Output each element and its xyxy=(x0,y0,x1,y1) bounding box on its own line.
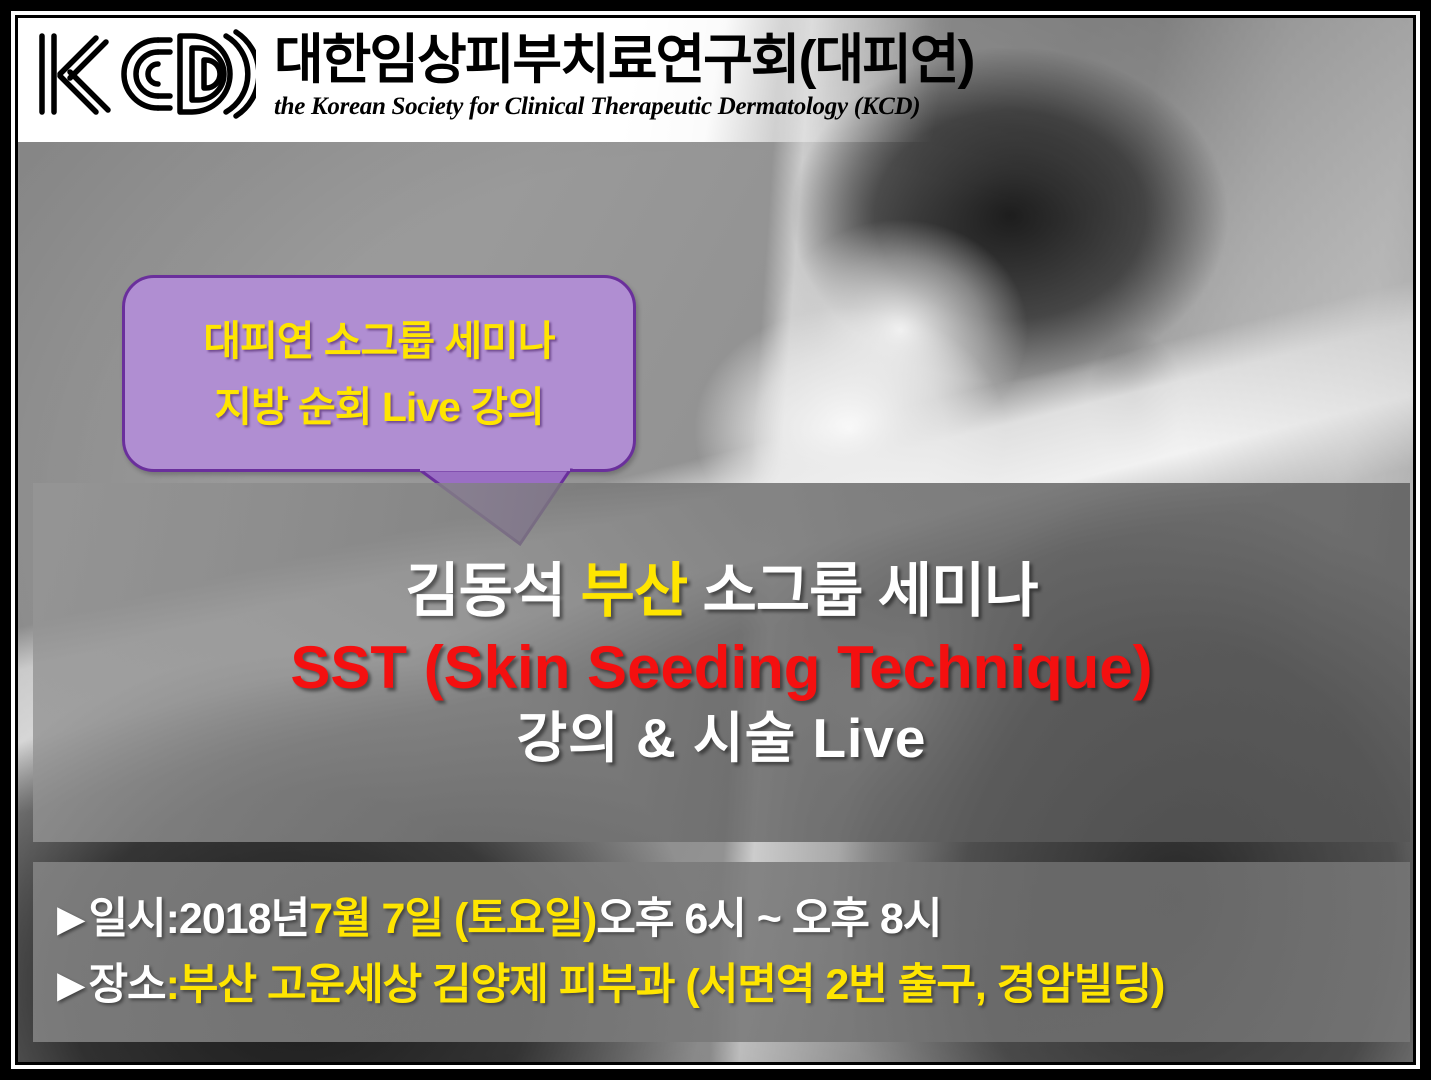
poster: 대한임상피부치료연구회(대피연) the Korean Society for … xyxy=(0,0,1431,1080)
organization-name-block: 대한임상피부치료연구회(대피연) the Korean Society for … xyxy=(274,26,973,122)
detail-value-datetime-highlight: 7월 7일 (토요일) xyxy=(309,893,596,945)
title-line-1: 김동석 부산 소그룹 세미나 xyxy=(405,554,1037,628)
detail-value-venue-highlight: 부산 고운세상 김양제 피부과 (서면역 2번 출구, 경암빌딩) xyxy=(179,959,1164,1011)
title-line-1-part-1: 김동석 xyxy=(405,558,580,624)
badge-line-2: 지방 순회 Live 강의 xyxy=(214,385,544,429)
bullet-triangle-icon: ▶ xyxy=(57,893,84,945)
kcd-logo-icon xyxy=(30,26,256,122)
detail-colon-venue: : xyxy=(166,959,179,1011)
title-panel: 김동석 부산 소그룹 세미나 SST (Skin Seeding Techniq… xyxy=(33,483,1410,842)
seminar-badge: 대피연 소그룹 세미나 지방 순회 Live 강의 xyxy=(122,275,636,472)
detail-label-venue: 장소 xyxy=(88,959,165,1011)
badge-line-1: 대피연 소그룹 세미나 xyxy=(203,319,554,363)
details-panel: ▶일시: 2018년 7월 7일 (토요일) 오후 6시 ~ 오후 8시 ▶장소… xyxy=(33,862,1410,1042)
detail-label-datetime: 일시 xyxy=(88,893,165,945)
detail-value-datetime-part-1: 2018년 xyxy=(179,893,309,945)
title-line-2: SST (Skin Seeding Technique) xyxy=(290,632,1152,704)
detail-row-datetime: ▶일시: 2018년 7월 7일 (토요일) 오후 6시 ~ 오후 8시 xyxy=(57,893,1410,945)
bullet-triangle-icon: ▶ xyxy=(57,959,84,1011)
title-line-3: 강의 & 시술 Live xyxy=(516,704,926,772)
organization-header: 대한임상피부치료연구회(대피연) the Korean Society for … xyxy=(30,26,973,122)
detail-row-venue: ▶장소: 부산 고운세상 김양제 피부과 (서면역 2번 출구, 경암빌딩) xyxy=(57,959,1410,1011)
organization-name-kr: 대한임상피부치료연구회(대피연) xyxy=(274,30,973,90)
title-line-1-highlight: 부산 xyxy=(581,558,688,624)
detail-colon-datetime: : xyxy=(166,893,179,945)
detail-value-datetime-part-2: 오후 6시 ~ 오후 8시 xyxy=(596,893,941,945)
title-line-1-part-2: 소그룹 세미나 xyxy=(687,558,1037,624)
organization-name-en: the Korean Society for Clinical Therapeu… xyxy=(274,92,973,122)
